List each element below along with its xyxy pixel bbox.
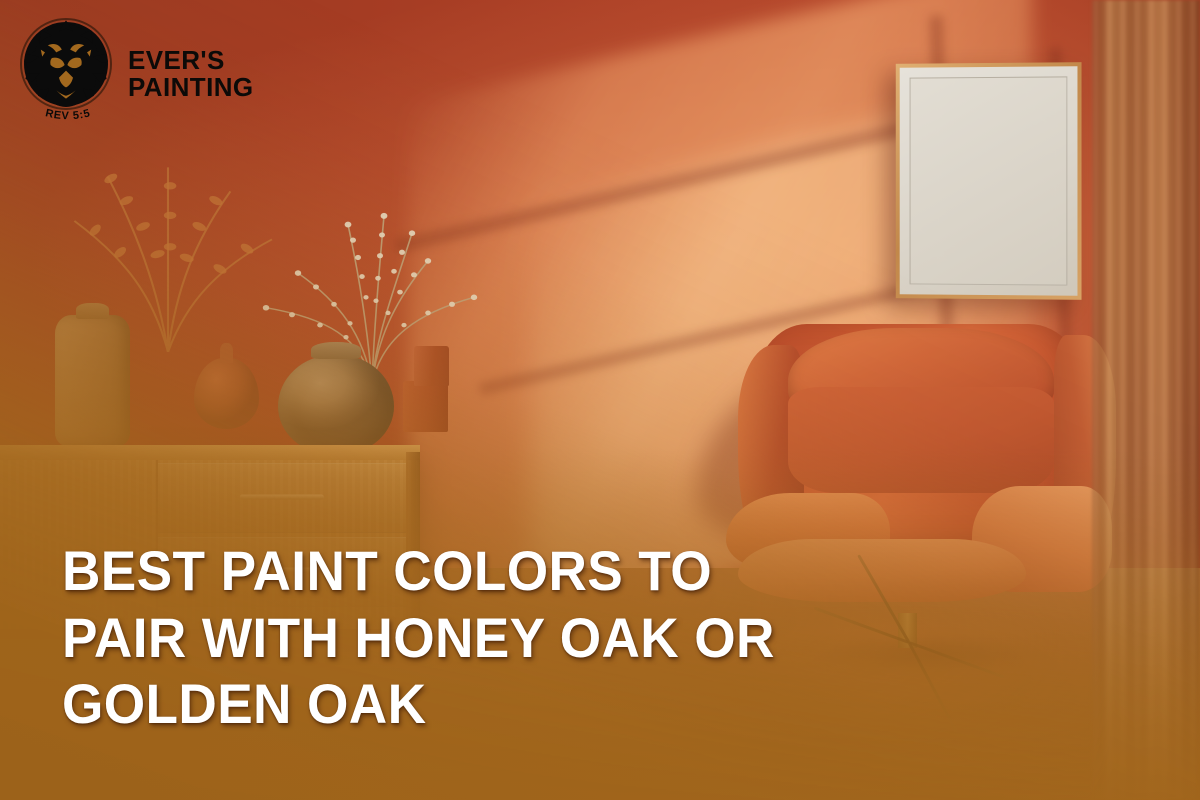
logo-verse-label: REV 5:5	[44, 107, 92, 122]
page-title: BEST PAINT COLORS TO PAIR WITH HONEY OAK…	[62, 538, 997, 738]
lion-head-icon	[24, 20, 108, 110]
brand-logo[interactable]: REV 5:5 EVER'S PAINTING	[22, 22, 254, 126]
brand-name-line2: PAINTING	[128, 74, 254, 101]
headline-line-1: BEST PAINT COLORS TO	[62, 538, 997, 605]
brand-wordmark: EVER'S PAINTING	[128, 47, 254, 101]
headline-line-2: PAIR WITH HONEY OAK OR	[62, 605, 997, 672]
logo-mark: REV 5:5	[22, 22, 114, 126]
headline-line-3: GOLDEN OAK	[62, 671, 997, 738]
brand-name-line1: EVER'S	[128, 47, 254, 74]
hero-banner: REV 5:5 EVER'S PAINTING BEST PAINT COLOR…	[0, 0, 1200, 800]
logo-verse-text: REV 5:5	[22, 106, 114, 128]
svg-text:REV 5:5: REV 5:5	[44, 107, 92, 122]
